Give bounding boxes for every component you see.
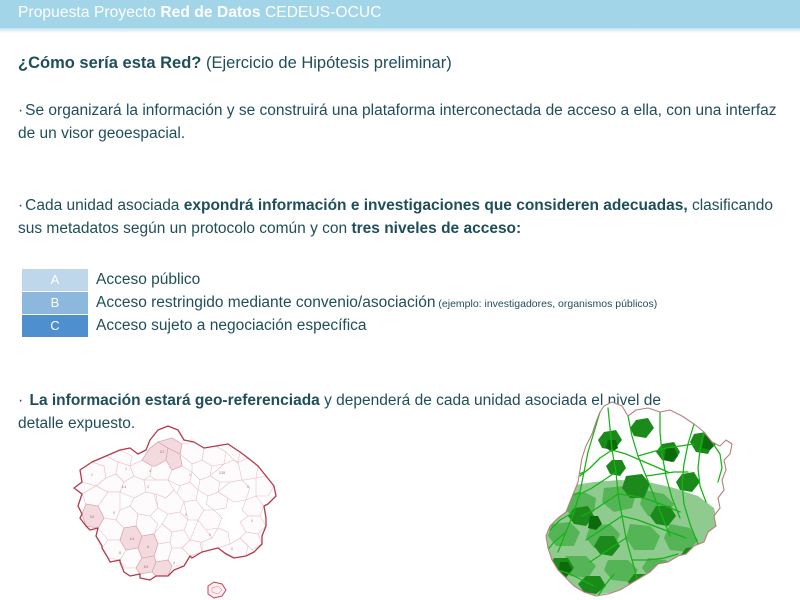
svg-text:3.6: 3.6: [90, 515, 95, 519]
svg-text:0: 0: [251, 519, 253, 523]
svg-text:4.4: 4.4: [130, 537, 135, 541]
map-tematico-svg: [508, 398, 760, 600]
svg-text:2: 2: [147, 485, 149, 489]
slide-content: ¿Cómo sería esta Red? (Ejercicio de Hipó…: [0, 0, 800, 600]
paragraph-organizacion-text: Se organizará la información y se constr…: [18, 102, 777, 142]
paragraph-unidades-bold-1: expondrá información e investigaciones q…: [184, 197, 688, 214]
access-level-label-a-text: Acceso público: [96, 271, 200, 288]
access-levels-legend: A Acceso público B Acceso restringido me…: [22, 269, 782, 338]
map-comunal-outline[interactable]: 3.2 1 1 4.4 4 2 1 3.35 0 0 3.6 9 4.4 6 8…: [62, 418, 302, 600]
page-title-subtitle: (Ejercicio de Hipótesis preliminar): [201, 54, 451, 72]
svg-text:8: 8: [119, 551, 121, 555]
access-level-label-a: Acceso público: [96, 269, 200, 291]
status-badge-a[interactable]: A: [22, 269, 88, 291]
status-badge-c[interactable]: C: [22, 315, 88, 337]
map-left-island: [208, 582, 226, 598]
page-title: ¿Cómo sería esta Red? (Ejercicio de Hipó…: [18, 53, 452, 73]
access-level-label-b-text: Acceso restringido mediante convenio/aso…: [96, 294, 435, 311]
svg-text:0: 0: [247, 485, 249, 489]
svg-text:1: 1: [125, 467, 127, 471]
svg-text:1: 1: [189, 473, 191, 477]
status-badge-b[interactable]: B: [22, 292, 88, 314]
svg-text:4: 4: [149, 469, 151, 473]
paragraph-unidades-bold-2: tres niveles de acceso:: [351, 220, 521, 237]
paragraph-organizacion: ·Se organizará la información y se const…: [18, 99, 786, 145]
svg-text:4: 4: [173, 561, 175, 565]
paragraph-georeferenciada-bold: La información estará geo-referenciada: [29, 392, 319, 409]
svg-text:0: 0: [185, 513, 187, 517]
svg-text:9: 9: [113, 511, 115, 515]
svg-text:4.4: 4.4: [122, 485, 127, 489]
svg-text:8.6: 8.6: [144, 565, 149, 569]
access-level-note-b: (ejemplo: investigadores, organismos púb…: [435, 298, 657, 310]
svg-text:0: 0: [209, 533, 211, 537]
page-title-question: ¿Cómo sería esta Red?: [18, 54, 201, 72]
access-level-row-c[interactable]: C Acceso sujeto a negociación específica: [22, 315, 782, 337]
access-level-label-b: Acceso restringido mediante convenio/aso…: [96, 292, 657, 314]
svg-text:3.2: 3.2: [160, 450, 165, 454]
access-level-label-c: Acceso sujeto a negociación específica: [96, 315, 367, 337]
svg-text:1: 1: [91, 473, 93, 477]
map-tematico-verde[interactable]: [508, 398, 760, 600]
access-level-label-c-text: Acceso sujeto a negociación específica: [96, 317, 367, 334]
paragraph-unidades: ·Cada unidad asociada expondrá informaci…: [18, 194, 790, 240]
svg-text:0: 0: [231, 547, 233, 551]
svg-text:6: 6: [147, 545, 149, 549]
paragraph-unidades-text-1: Cada unidad asociada: [25, 197, 184, 214]
access-level-row-a[interactable]: A Acceso público: [22, 269, 782, 291]
bullet-icon: ·: [18, 392, 25, 409]
map-comunal-svg: 3.2 1 1 4.4 4 2 1 3.35 0 0 3.6 9 4.4 6 8…: [62, 418, 302, 600]
access-level-row-b[interactable]: B Acceso restringido mediante convenio/a…: [22, 292, 782, 314]
svg-text:3.35: 3.35: [219, 471, 225, 475]
